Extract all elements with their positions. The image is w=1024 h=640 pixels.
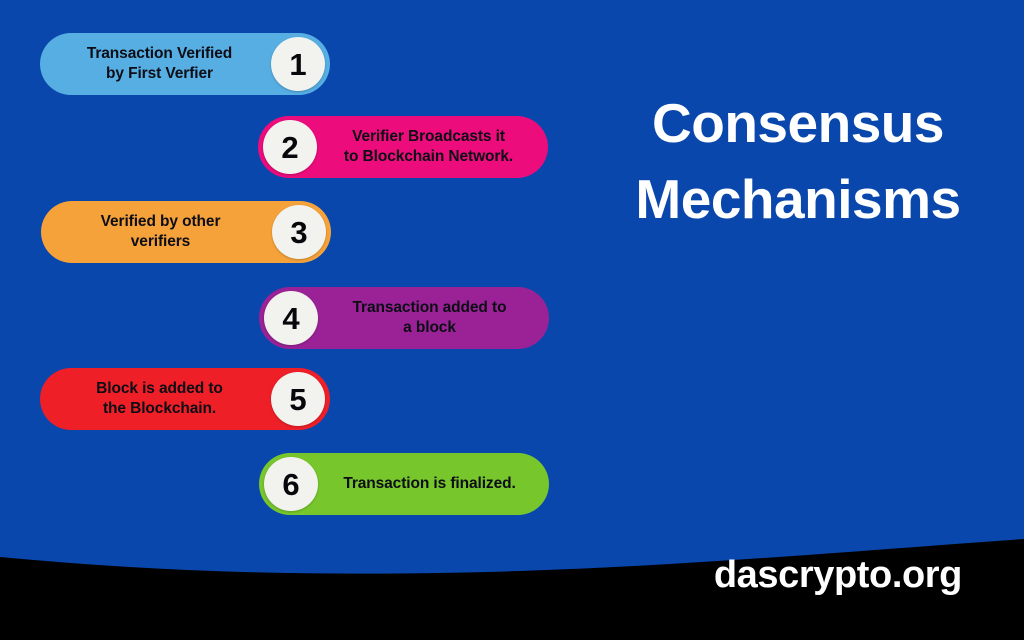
step-number-badge-4: 4 [264, 291, 318, 345]
infographic-poster: Transaction Verified by First Verfier 1 … [0, 0, 1024, 640]
step-number-badge-3: 3 [272, 205, 326, 259]
step-number-badge-5: 5 [271, 372, 325, 426]
step-item-2: 2 Verifier Broadcasts it to Blockchain N… [258, 116, 548, 178]
step-item-5: Block is added to the Blockchain. 5 [40, 368, 330, 430]
step-item-1: Transaction Verified by First Verfier 1 [40, 33, 330, 95]
footer-website-label: dascrypto.org [714, 556, 962, 594]
step-item-4: 4 Transaction added to a block [259, 287, 549, 349]
step-label-6: Transaction is finalized. [320, 474, 549, 494]
step-label-4: Transaction added to a block [320, 298, 549, 338]
step-label-3: Verified by other verifiers [41, 212, 270, 252]
step-item-6: 6 Transaction is finalized. [259, 453, 549, 515]
step-number-badge-1: 1 [271, 37, 325, 91]
steps-list: Transaction Verified by First Verfier 1 … [0, 0, 580, 540]
step-label-1: Transaction Verified by First Verfier [40, 44, 269, 84]
poster-title: Consensus Mechanisms [592, 86, 1004, 238]
step-number-badge-2: 2 [263, 120, 317, 174]
step-item-3: Verified by other verifiers 3 [41, 201, 331, 263]
step-label-2: Verifier Broadcasts it to Blockchain Net… [319, 127, 548, 167]
step-label-5: Block is added to the Blockchain. [40, 379, 269, 419]
step-number-badge-6: 6 [264, 457, 318, 511]
